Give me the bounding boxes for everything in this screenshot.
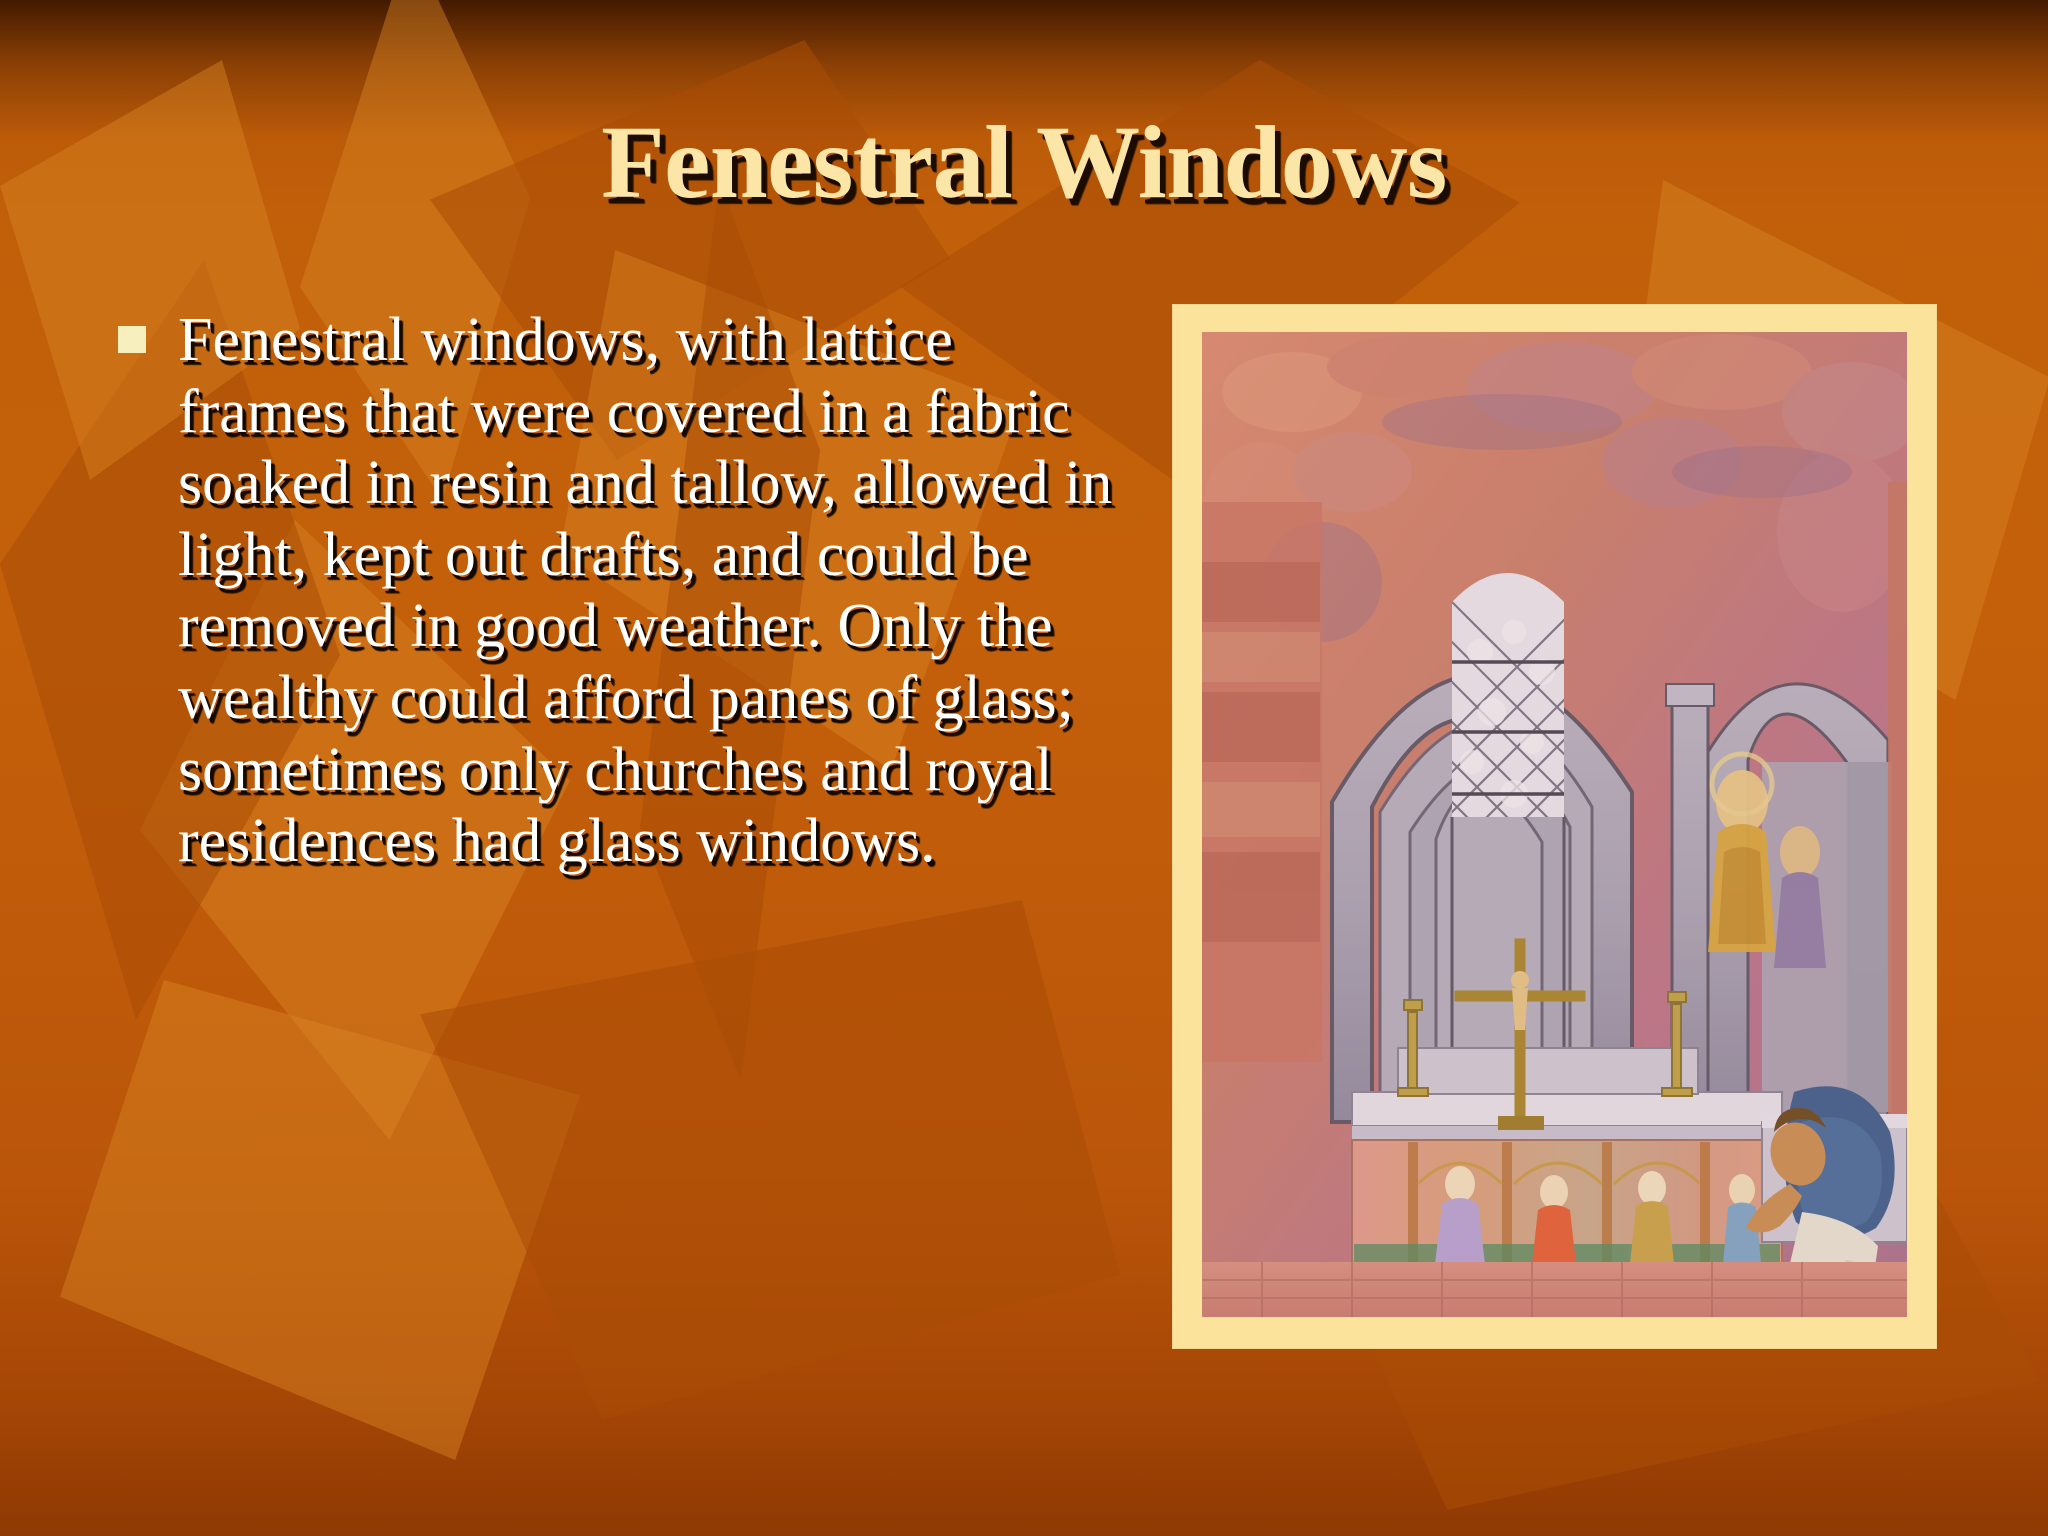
bullet-text: Fenestral windows, with lattice frames t…	[178, 305, 1128, 878]
slide-body: Fenestral windows, with lattice frames t…	[118, 305, 1128, 878]
slide: Fenestral Windows Fenestral windows, wit…	[0, 0, 2048, 1536]
bullet-square-icon	[118, 326, 146, 353]
list-item: Fenestral windows, with lattice frames t…	[118, 305, 1128, 878]
picture-frame	[1173, 305, 1936, 1348]
slide-title: Fenestral Windows	[0, 108, 2048, 217]
manuscript-illustration	[1202, 332, 1907, 1317]
